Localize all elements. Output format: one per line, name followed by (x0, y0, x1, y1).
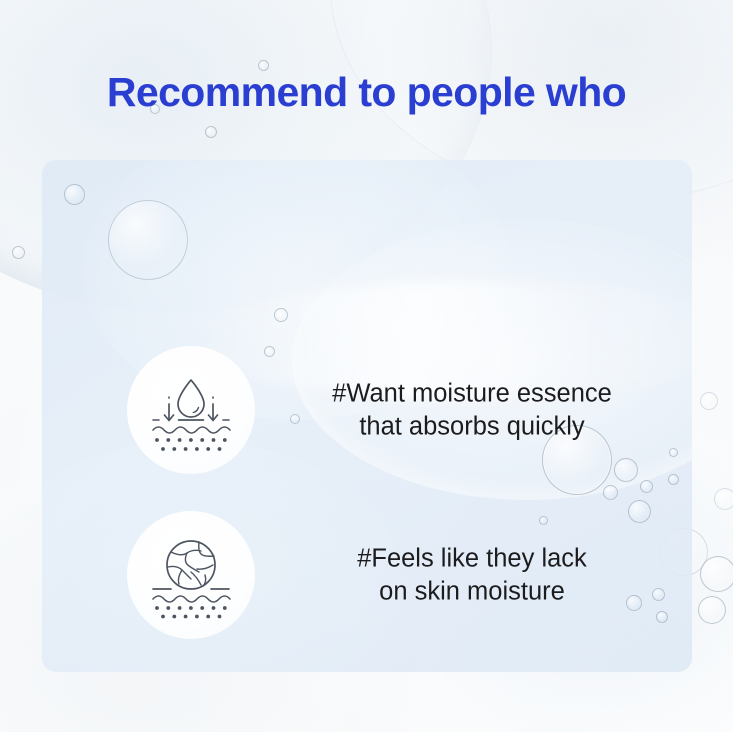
recommendation-line-1: #Feels like they lack (272, 542, 672, 575)
bubble (700, 556, 733, 592)
bubble (64, 184, 85, 205)
cracked-dry-sphere-skin-icon (127, 511, 255, 639)
promo-graphic: Recommend to people who (0, 0, 733, 732)
bubble (205, 126, 217, 138)
absorb-droplet-skin-icon (127, 346, 255, 474)
recommendation-row: #Need to strengthen their skin’s moistur… (42, 665, 692, 672)
recommendation-row: #Feels like they lack on skin moisture (42, 500, 692, 650)
recommendation-line-2: on skin moisture (272, 575, 672, 608)
bubble (108, 200, 188, 280)
recommendation-row: #Want moisture essence that absorbs quic… (42, 335, 692, 485)
bubble (714, 488, 733, 510)
recommendation-line-2: that absorbs quickly (272, 410, 672, 443)
bubble (12, 246, 25, 259)
bubble (603, 485, 618, 500)
bubble (274, 308, 288, 322)
bubble (698, 596, 726, 624)
recommendation-text: #Feels like they lack on skin moisture (272, 542, 672, 607)
page-title: Recommend to people who (0, 72, 733, 113)
bubble (700, 392, 718, 410)
recommendation-panel: #Want moisture essence that absorbs quic… (42, 160, 692, 672)
recommendation-text: #Want moisture essence that absorbs quic… (272, 377, 672, 442)
recommendation-line-1: #Want moisture essence (272, 377, 672, 410)
